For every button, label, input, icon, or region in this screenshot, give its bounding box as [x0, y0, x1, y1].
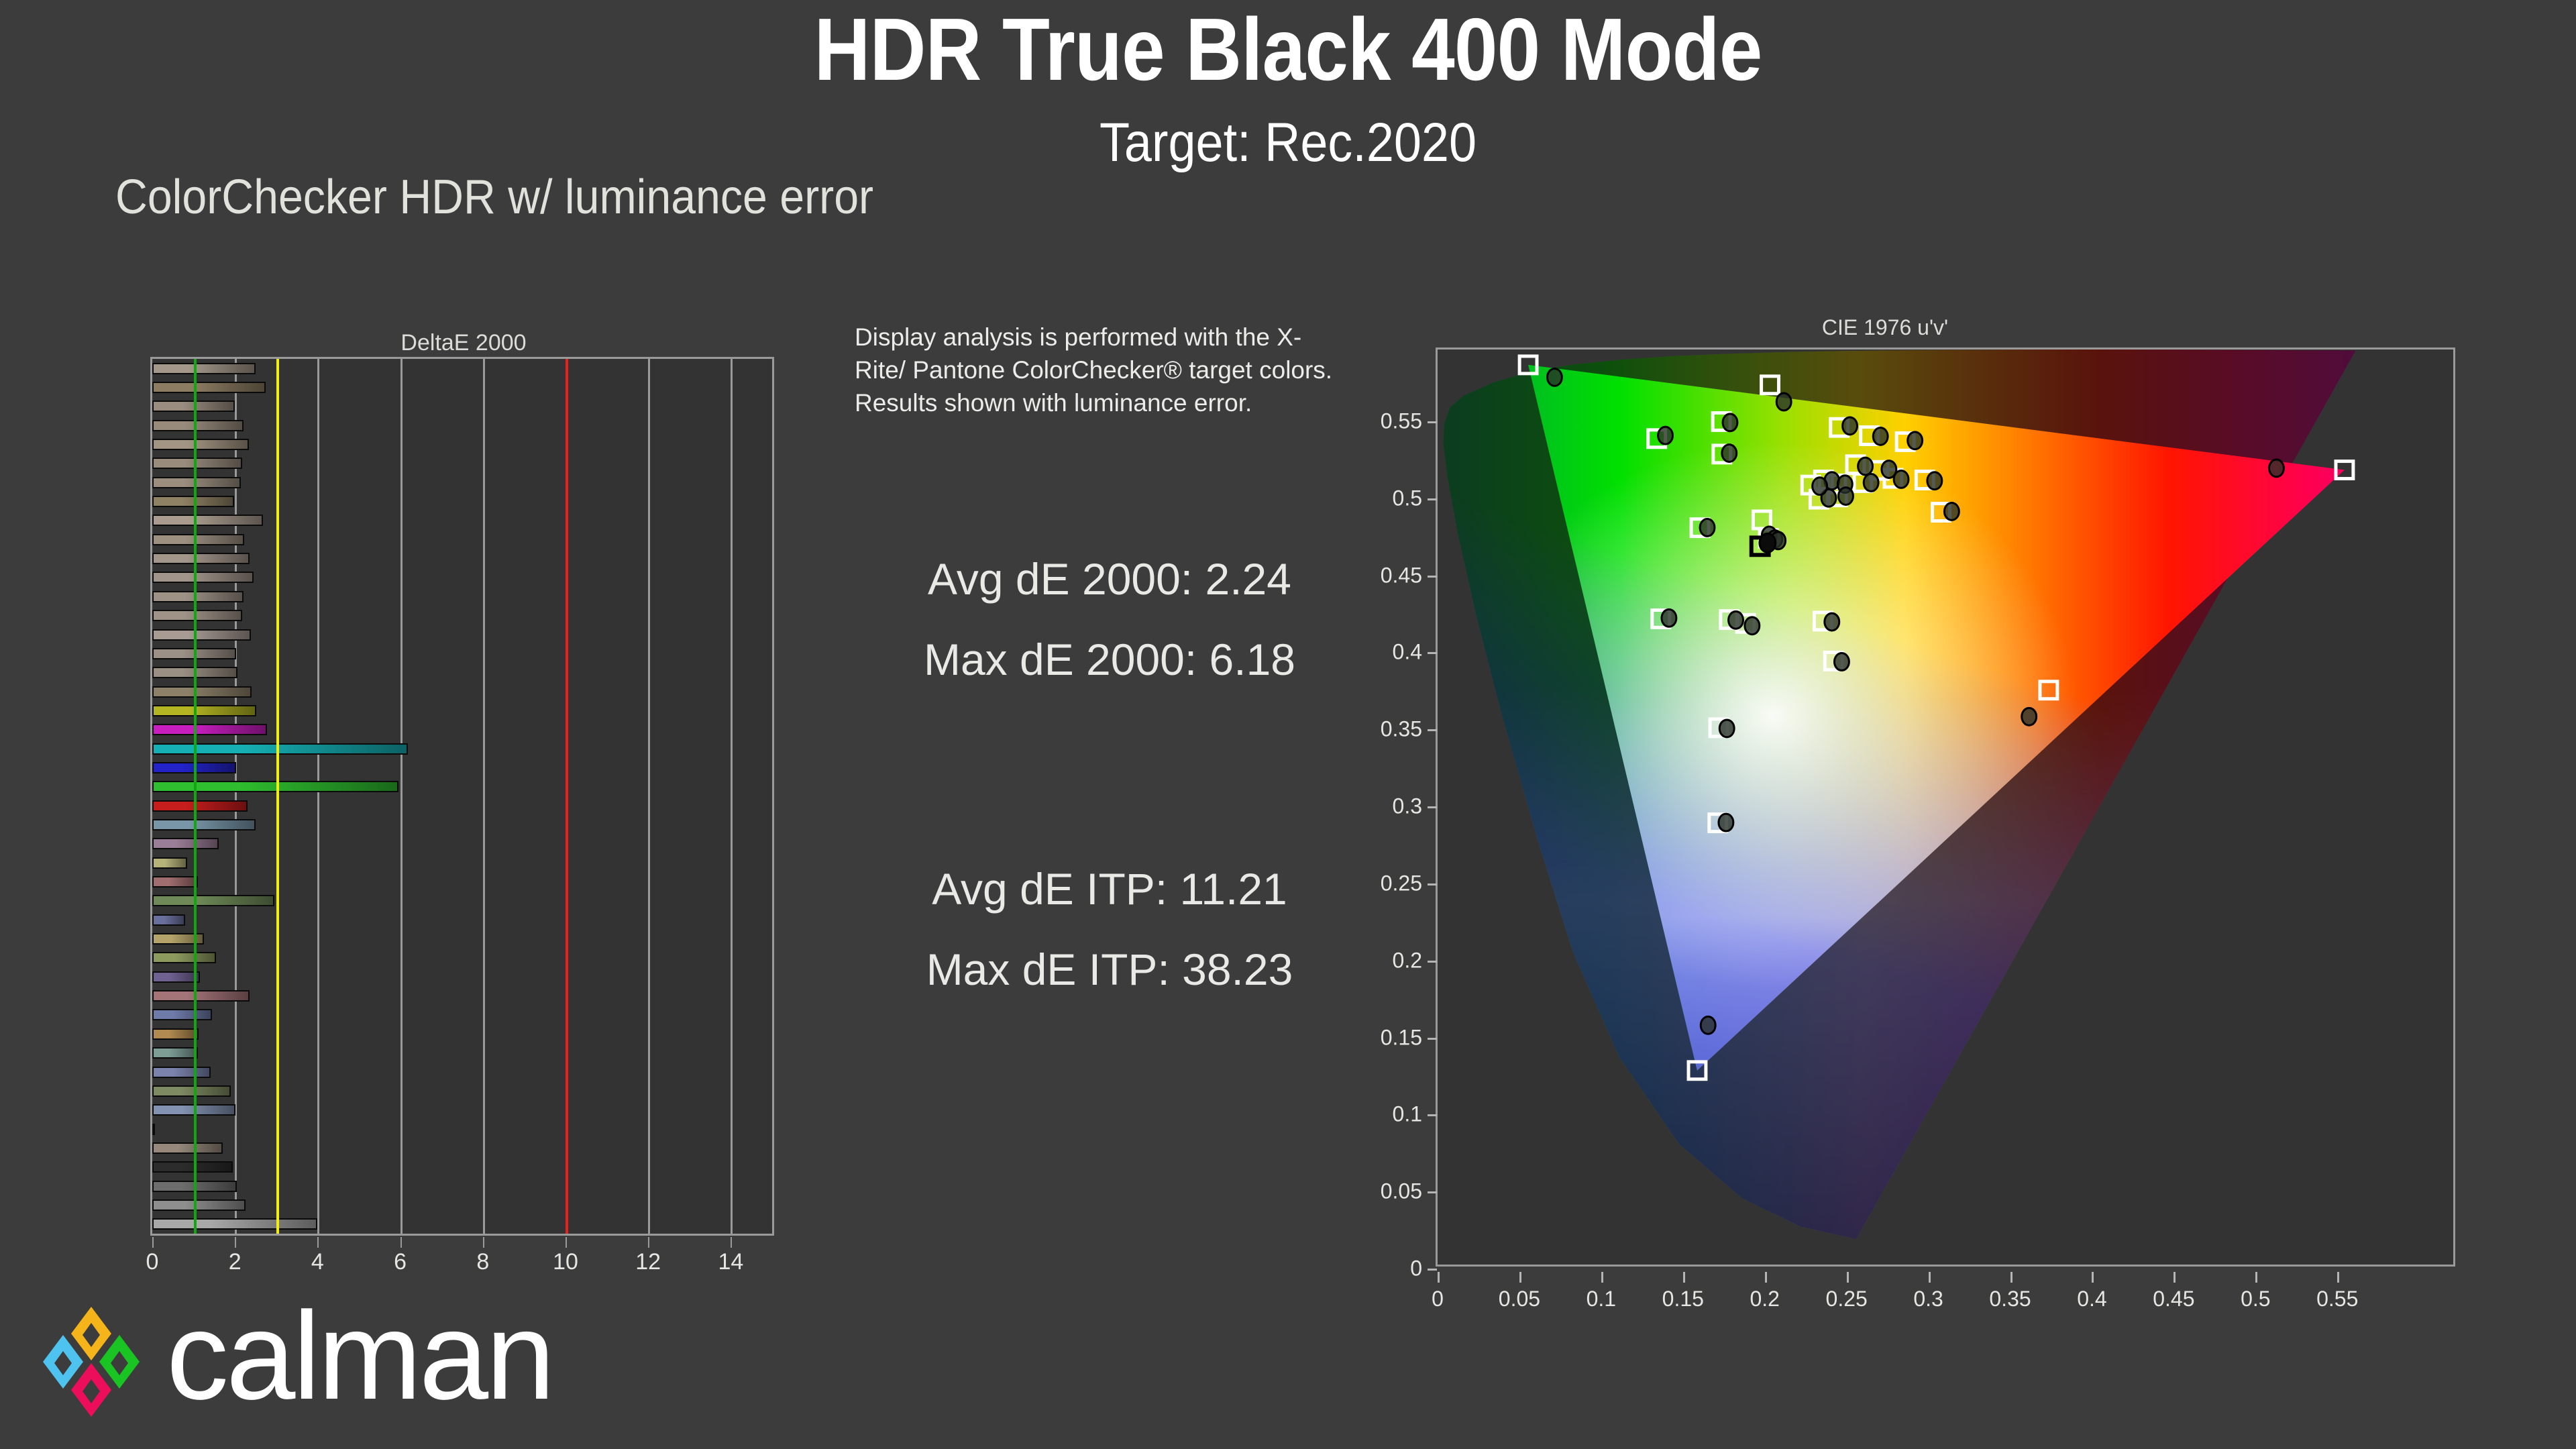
bar: [152, 838, 219, 849]
cie-y-label: 0.25: [1335, 871, 1422, 896]
bar-row: [152, 933, 772, 945]
bar-chart-x-axis: 02468101214: [150, 1237, 774, 1284]
bar-gridline: [731, 359, 733, 1234]
measured-dot: [1873, 427, 1888, 445]
measured-dot: [1894, 471, 1909, 488]
bar-row: [152, 1142, 772, 1154]
bar-row: [152, 1199, 772, 1211]
bar-row: [152, 629, 772, 641]
measured-dot: [2269, 460, 2284, 477]
bar-row: [152, 477, 772, 488]
cie-plot-area: [1436, 347, 2455, 1267]
bar: [152, 971, 200, 983]
cie-x-tick: [1519, 1272, 1521, 1283]
cie-y-tick: [1428, 576, 1437, 578]
calman-wordmark: calman: [166, 1289, 553, 1424]
avg-de2000-stat: Avg dE 2000: 2.24: [855, 557, 1364, 601]
cie-y-label: 0.15: [1335, 1025, 1422, 1050]
bar-row: [152, 610, 772, 621]
measured-dot: [1813, 478, 1827, 495]
bar-row: [152, 400, 772, 412]
bar: [152, 458, 242, 469]
measured-dot: [1658, 427, 1673, 444]
logo-petal-top: [71, 1307, 111, 1360]
measured-dot: [2022, 708, 2037, 725]
cie-x-tick: [1847, 1272, 1849, 1283]
calman-logo-mark: [24, 1295, 158, 1429]
bar-row: [152, 572, 772, 583]
bar-row: [152, 1047, 772, 1059]
logo-petal-right: [99, 1335, 140, 1389]
bar: [152, 686, 252, 698]
bar: [152, 591, 244, 602]
bar: [152, 363, 256, 374]
bar: [152, 1085, 231, 1097]
measured-dot: [1723, 414, 1737, 431]
bar: [152, 705, 256, 716]
cie-y-label: 0.3: [1335, 794, 1422, 819]
calman-logo: calman: [24, 1295, 655, 1429]
bar-row: [152, 800, 772, 812]
cie-x-tick: [1683, 1272, 1685, 1283]
bar-row: [152, 591, 772, 602]
cie-gamut-svg: [1438, 350, 2453, 1265]
measured-dot: [1839, 488, 1854, 505]
cie-x-label: 0.1: [1587, 1287, 1616, 1311]
page-title: HDR True Black 400 Mode: [154, 5, 2421, 94]
bar-axis-label: 4: [311, 1249, 324, 1275]
cie-x-tick: [2173, 1272, 2176, 1283]
bar-row: [152, 914, 772, 926]
cie-x-tick: [2337, 1272, 2339, 1283]
report-page: HDR True Black 400 Mode Target: Rec.2020…: [0, 0, 2576, 1449]
bar-row: [152, 1218, 772, 1230]
bar-axis-label: 6: [394, 1249, 407, 1275]
cie-y-tick: [1428, 729, 1437, 731]
bar-row: [152, 857, 772, 869]
cie-x-label: 0.4: [2077, 1287, 2106, 1311]
bar: [152, 724, 267, 735]
cie-y-label: 0.45: [1335, 563, 1422, 588]
bar-row: [152, 1124, 772, 1135]
cie-x-label: 0.35: [1989, 1287, 2031, 1311]
bar-row: [152, 439, 772, 450]
cie-y-label: 0: [1335, 1256, 1422, 1281]
cie-x-label: 0.25: [1826, 1287, 1868, 1311]
bar: [152, 553, 250, 564]
bar-axis-tick: [152, 1237, 154, 1248]
bar-row: [152, 515, 772, 526]
logo-petal-bottom: [71, 1363, 111, 1417]
bar: [152, 534, 244, 545]
avg-deitp-stat: Avg dE ITP: 11.21: [855, 867, 1364, 911]
bar-gridline: [648, 359, 650, 1234]
cie-y-label: 0.1: [1335, 1102, 1422, 1127]
bar: [152, 876, 198, 888]
cie-x-tick: [2010, 1272, 2012, 1283]
cie-y-tick: [1428, 806, 1437, 808]
measured-dot: [1547, 368, 1562, 386]
bar-chart-plot-area: [150, 357, 774, 1236]
bar-gridline: [400, 359, 402, 1234]
bar: [152, 1124, 155, 1135]
measured-dot: [1719, 814, 1733, 831]
bar: [152, 1199, 246, 1211]
bar: [152, 1161, 233, 1173]
bar-axis-label: 0: [146, 1249, 159, 1275]
cie-x-tick: [2255, 1272, 2257, 1283]
bar: [152, 914, 185, 926]
bar-row: [152, 1067, 772, 1078]
bar: [152, 420, 244, 431]
cie-y-label: 0.2: [1335, 948, 1422, 973]
cie-y-tick: [1428, 1038, 1437, 1040]
bar: [152, 572, 254, 583]
bar: [152, 781, 398, 792]
measured-dot: [1858, 458, 1873, 475]
measured-dot: [1927, 472, 1942, 490]
bar-row: [152, 895, 772, 906]
bar: [152, 610, 242, 621]
bar-row: [152, 990, 772, 1002]
cie-x-label: 0.5: [2241, 1287, 2270, 1311]
cie-y-tick: [1428, 652, 1437, 654]
green-threshold: [194, 359, 197, 1234]
bar-axis-label: 2: [229, 1249, 241, 1275]
bar-row: [152, 458, 772, 469]
bar-row: [152, 838, 772, 849]
analysis-description: Display analysis is performed with the X…: [855, 321, 1338, 420]
bar: [152, 477, 241, 488]
cie-x-tick: [1601, 1272, 1603, 1283]
bar-row: [152, 819, 772, 830]
bar-row: [152, 648, 772, 659]
bar-axis-tick: [235, 1237, 236, 1248]
cie-x-label: 0.15: [1662, 1287, 1704, 1311]
cie-y-tick: [1428, 1191, 1437, 1193]
bar: [152, 743, 408, 755]
measured-dot: [1944, 502, 1959, 520]
bar-row: [152, 1181, 772, 1192]
bar: [152, 439, 249, 450]
bar: [152, 952, 216, 963]
cie-y-label: 0.05: [1335, 1179, 1422, 1204]
measured-dot: [1776, 393, 1791, 411]
cie-y-tick: [1428, 883, 1437, 885]
bar: [152, 819, 256, 830]
cie-x-label: 0.2: [1750, 1287, 1779, 1311]
cie-y-label: 0.35: [1335, 717, 1422, 742]
bar-axis-tick: [483, 1237, 484, 1248]
bar-row: [152, 496, 772, 507]
bar-row: [152, 1028, 772, 1040]
cie-y-tick: [1428, 1269, 1437, 1271]
bar-row: [152, 363, 772, 374]
bar-row: [152, 743, 772, 755]
bar-row: [152, 420, 772, 431]
bar-axis-tick: [731, 1237, 732, 1248]
cie-y-tick: [1428, 421, 1437, 423]
max-deitp-stat: Max dE ITP: 38.23: [855, 947, 1364, 991]
cie-x-tick: [1765, 1272, 1767, 1283]
bar-axis-label: 14: [718, 1249, 743, 1275]
measured-dot: [1825, 613, 1839, 631]
bar-row: [152, 553, 772, 564]
cie-x-label: 0.3: [1913, 1287, 1943, 1311]
cie-y-label: 0.55: [1335, 409, 1422, 434]
measured-dot: [1864, 474, 1878, 491]
bar-row: [152, 705, 772, 716]
red-threshold: [566, 359, 568, 1234]
cie-x-label: 0: [1432, 1287, 1444, 1311]
bar-axis-tick: [566, 1237, 567, 1248]
bar-row: [152, 781, 772, 792]
bar-gridline: [483, 359, 485, 1234]
yellow-threshold: [276, 359, 279, 1234]
cie-y-tick: [1428, 1114, 1437, 1116]
cie-x-tick: [2092, 1272, 2094, 1283]
cie-x-label: 0.55: [2316, 1287, 2358, 1311]
bar-row: [152, 762, 772, 773]
bar: [152, 990, 250, 1002]
bar-row: [152, 1009, 772, 1020]
bar-row: [152, 1161, 772, 1173]
measured-dot: [1701, 1016, 1715, 1034]
measured-dot: [1908, 432, 1923, 449]
cie-y-label: 0.4: [1335, 640, 1422, 665]
measured-dot: [1729, 611, 1743, 629]
bar-gridline: [235, 359, 237, 1234]
bar: [152, 1047, 198, 1059]
measured-dot: [1719, 720, 1734, 737]
cie-x-tick: [1929, 1272, 1931, 1283]
cie-chromaticity-chart: CIE 1976 u'v' 00.050.10.150.20.250.30.35…: [1368, 315, 2482, 1254]
bar-axis-tick: [648, 1237, 649, 1248]
bar-gridline: [317, 359, 319, 1234]
bar-row: [152, 534, 772, 545]
bar: [152, 1009, 212, 1020]
bar-axis-label: 10: [553, 1249, 578, 1275]
bar-axis-label: 12: [635, 1249, 661, 1275]
measured-dot: [1843, 417, 1858, 435]
section-title: ColorChecker HDR w/ luminance error: [115, 173, 873, 221]
cie-x-label: 0.05: [1499, 1287, 1540, 1311]
cie-y-tick: [1428, 961, 1437, 963]
bar: [152, 1028, 199, 1040]
bar: [152, 1142, 223, 1154]
bar: [152, 895, 274, 906]
bar-axis-tick: [400, 1237, 402, 1248]
cie-y-tick: [1428, 498, 1437, 500]
white-point-measured: [1760, 533, 1776, 552]
max-de2000-stat: Max dE 2000: 6.18: [855, 637, 1364, 682]
cie-chart-title: CIE 1976 u'v': [1368, 315, 2402, 340]
bar-axis-tick: [317, 1237, 319, 1248]
measured-dot: [1700, 519, 1715, 536]
bar: [152, 800, 248, 812]
cie-x-tick: [1438, 1272, 1440, 1283]
bar-axis-label: 8: [476, 1249, 489, 1275]
logo-petal-left: [43, 1335, 83, 1389]
bar: [152, 629, 251, 641]
target-subtitle: Target: Rec.2020: [129, 115, 2447, 170]
bar-row: [152, 952, 772, 963]
measured-dot: [1745, 617, 1760, 635]
bar-row: [152, 667, 772, 678]
bar: [152, 515, 263, 526]
cie-y-label: 0.5: [1335, 486, 1422, 511]
bar: [152, 1218, 317, 1230]
bar-row: [152, 876, 772, 888]
deltae-bar-chart: DeltaE 2000 02468101214: [150, 330, 777, 1236]
bar-row: [152, 1104, 772, 1116]
bar: [152, 382, 266, 393]
measured-dot: [1834, 653, 1849, 671]
bar: [152, 1067, 211, 1078]
bar-row: [152, 971, 772, 983]
bar-row: [152, 686, 772, 698]
cie-x-label: 0.45: [2153, 1287, 2194, 1311]
bar: [152, 857, 187, 869]
measured-dot: [1722, 445, 1737, 462]
bar-row: [152, 1085, 772, 1097]
bar-chart-title: DeltaE 2000: [150, 330, 777, 356]
bar-row: [152, 382, 772, 393]
bar-row: [152, 724, 772, 735]
measured-dot: [1662, 609, 1676, 627]
